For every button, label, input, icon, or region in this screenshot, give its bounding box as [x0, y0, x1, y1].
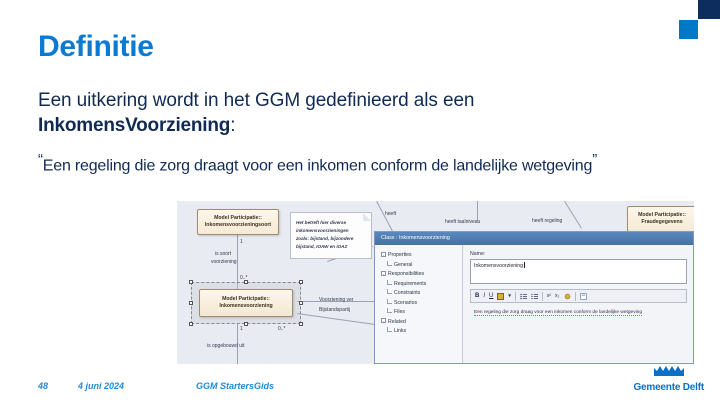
embedded-screenshot: Model Participatie:: Inkomensvoorziening… [177, 201, 694, 364]
tree-item-links[interactable]: Links [381, 327, 462, 337]
note-line-2: inkomensvoorzieningen [296, 227, 367, 235]
numbered-list-button[interactable] [531, 293, 538, 300]
note-line-3: zoals: bijstand, bijzondere [296, 235, 367, 243]
dialog-right-pane: Name: Inkomensvoorziening B I U ▾ x² x₂ [463, 245, 693, 363]
resize-handle-ne[interactable] [299, 280, 303, 284]
footer-deck-name: GGM StartersGids [196, 381, 274, 391]
name-input[interactable]: Inkomensvoorziening [470, 259, 687, 284]
uml-class-name: Fraudegegevens [641, 219, 682, 226]
tree-item-files[interactable]: Files [381, 308, 462, 318]
assoc-label-is-soort: is soort [215, 251, 231, 258]
superscript-button[interactable]: x² [547, 293, 551, 299]
uml-class-qualifier: Model Participatie:: [222, 296, 270, 303]
tree-node-responsibilities[interactable]: -Responsibilities [381, 270, 462, 280]
underline-button[interactable]: U [489, 293, 493, 299]
page-title: Definitie [38, 30, 154, 64]
quote-body: Een regeling die zorg draagt voor een in… [43, 157, 592, 174]
assoc-label-taalniveau: heeft taalniveau [445, 219, 480, 226]
tree-item-general[interactable]: General [381, 261, 462, 271]
connector-taalniveau [477, 201, 478, 221]
collapse-icon[interactable]: - [381, 271, 386, 276]
note-line-4: bijstand, IOAW en IOAZ [296, 243, 367, 251]
dialog-body: -Properties General -Responsibilities Re… [375, 245, 693, 363]
description-value: Een regeling die zorg draag voor een ink… [474, 310, 642, 316]
uml-class-inkomensvoorzieningsoort[interactable]: Model Participatie:: Inkomensvoorziening… [197, 209, 279, 235]
toolbar-separator-2 [542, 292, 543, 301]
term-colon: : [230, 115, 235, 136]
bullet-list-button[interactable] [520, 293, 527, 300]
multiplicity-0n-a: 0..* [240, 275, 248, 281]
term-bold: InkomensVoorziening [38, 115, 230, 136]
uml-class-inkomensvoorziening[interactable]: Model Participatie:: Inkomensvoorziening [199, 289, 293, 317]
tree-item-constraints[interactable]: Constraints [381, 289, 462, 299]
logo-text: Gemeente Delft [633, 382, 704, 393]
footer-date: 4 juni 2024 [78, 381, 196, 391]
uml-class-fraudegegevens[interactable]: Model Participatie:: Fraudegegevens [627, 206, 694, 232]
color-dropdown-arrow[interactable]: ▾ [508, 293, 511, 299]
dialog-nav-tree[interactable]: -Properties General -Responsibilities Re… [375, 245, 463, 363]
assoc-label-voorziening-ver: Voorziening ver [319, 297, 353, 304]
body-line-1: Een uitkering wordt in het GGM gedefinie… [38, 88, 658, 113]
toolbar-separator-3 [575, 292, 576, 301]
uml-class-qualifier: Model Participatie:: [638, 212, 686, 219]
uml-class-qualifier: Model Participatie:: [214, 215, 262, 222]
assoc-label-voorziening: voorziening [211, 259, 237, 266]
tree-node-label: Properties [388, 252, 412, 258]
multiplicity-1-b: 1 [240, 326, 243, 332]
collapse-icon[interactable]: - [381, 318, 386, 323]
uml-class-name: Inkomensvoorziening [219, 303, 272, 310]
toolbar-separator [515, 292, 516, 301]
collapse-icon[interactable]: - [381, 252, 386, 257]
description-text[interactable]: Een regeling die zorg draag voor een ink… [470, 309, 687, 317]
subscript-button[interactable]: x₂ [555, 293, 559, 299]
name-field-label: Name: [470, 251, 687, 257]
tree-node-label: Related [388, 319, 406, 325]
slide: Definitie Een uitkering wordt in het GGM… [0, 0, 720, 405]
uml-class-name: Inkomensvoorzieningsoort [205, 222, 271, 229]
uml-note[interactable]: Het betreft hier diverse inkomensvoorzie… [290, 212, 372, 259]
tree-node-label: Responsibilities [388, 271, 424, 277]
note-line-1: Het betreft hier diverse [296, 219, 367, 227]
resize-handle-w[interactable] [189, 301, 193, 305]
corner-square-blue [679, 20, 698, 39]
text-caret [524, 262, 525, 268]
text-color-button[interactable] [497, 293, 504, 300]
bold-button[interactable]: B [475, 293, 479, 299]
tree-item-requirements[interactable]: Requirements [381, 280, 462, 290]
rich-text-toolbar[interactable]: B I U ▾ x² x₂ [470, 289, 687, 303]
tree-node-related[interactable]: -Related [381, 318, 462, 328]
resize-handle-se[interactable] [299, 322, 303, 326]
quote-close-mark: ” [592, 151, 597, 168]
delft-crown-icon [652, 365, 686, 376]
hyperlink-button[interactable] [564, 293, 571, 300]
slide-footer: 484 juni 2024GGM StartersGids [38, 381, 274, 391]
name-input-value: Inkomensvoorziening [474, 263, 523, 269]
multiplicity-1: 1 [240, 239, 243, 245]
definition-quote: “Een regeling die zorg draagt voor een i… [38, 147, 658, 179]
resize-handle-s[interactable] [244, 322, 248, 326]
assoc-label-heeft: heeft [385, 211, 396, 218]
assoc-label-opgebouwd: is opgebouwd uit [207, 343, 245, 350]
assoc-label-regeling: heeft regeling [532, 218, 562, 225]
italic-button[interactable]: I [483, 293, 485, 299]
resize-handle-sw[interactable] [189, 322, 193, 326]
gemeente-delft-logo: Gemeente Delft [633, 365, 704, 395]
tree-item-scenarios[interactable]: Scenarios [381, 299, 462, 309]
class-properties-dialog[interactable]: Class : Inkomensvoorziening -Properties … [374, 231, 694, 364]
corner-square-dark [698, 0, 720, 19]
body-text: Een uitkering wordt in het GGM gedefinie… [38, 88, 658, 179]
multiplicity-0n-b: 0..* [278, 326, 286, 332]
resize-handle-nw[interactable] [189, 280, 193, 284]
body-line-2: InkomensVoorziening: [38, 113, 658, 139]
assoc-label-bijstandspartij: Bijstandspartij [319, 307, 350, 314]
connector-inherit [237, 235, 238, 289]
tree-node-properties[interactable]: -Properties [381, 251, 462, 261]
footer-page-number: 48 [38, 381, 78, 391]
resize-handle-e[interactable] [299, 301, 303, 305]
insert-object-button[interactable] [580, 293, 587, 300]
dialog-title: Class : Inkomensvoorziening [375, 232, 693, 245]
